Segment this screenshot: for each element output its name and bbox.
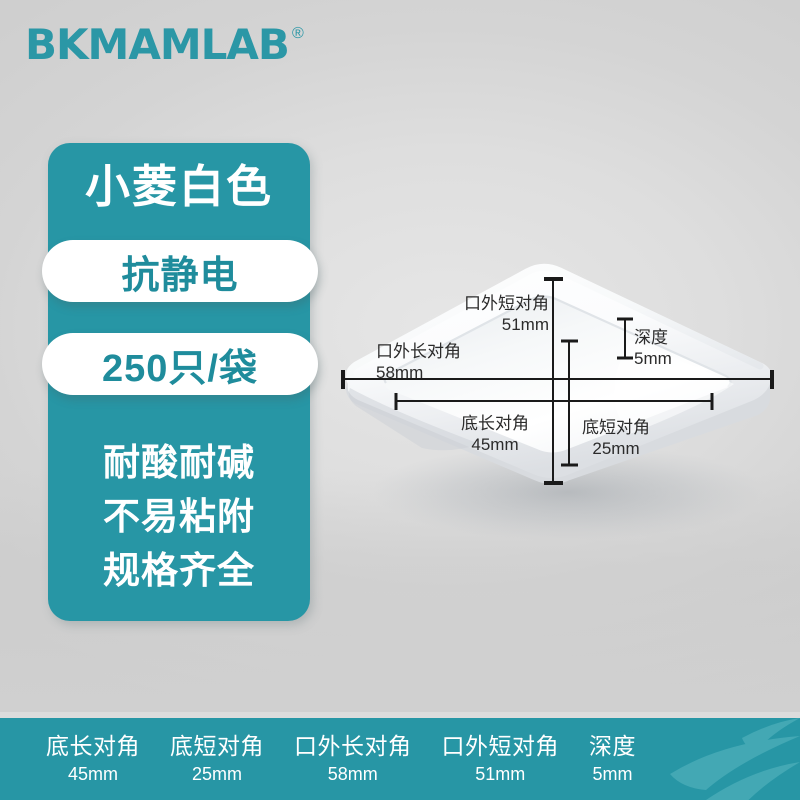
dimension-value: 5mm [634, 348, 672, 369]
dimension-name: 口外长对角 [376, 342, 461, 361]
spec-name: 深度 [589, 731, 636, 761]
spec-value: 5mm [589, 761, 636, 787]
spec-name: 口外短对角 [442, 731, 560, 761]
spec-column-di-duan: 底短对角 25mm [170, 731, 264, 787]
product-marketing-image: BKMAMLAB ® 小菱白色 抗静电 250只/袋 耐酸耐碱 不易粘附 规格齐… [0, 0, 800, 800]
dimension-name: 底短对角 [582, 418, 650, 437]
dimension-label-kouwai-duan: 口外短对角 51mm [417, 293, 549, 335]
spec-bar: 底长对角 45mm 底短对角 25mm 口外长对角 58mm 口外短对角 51m… [0, 718, 800, 800]
spec-name: 口外长对角 [294, 731, 412, 761]
spec-column-shendu: 深度 5mm [589, 731, 636, 787]
dimension-label-di-duan: 底短对角 25mm [572, 417, 660, 459]
dimension-value: 58mm [376, 362, 461, 383]
spec-columns: 底长对角 45mm 底短对角 25mm 口外长对角 58mm 口外短对角 51m… [0, 718, 800, 800]
dimension-name: 底长对角 [461, 414, 529, 433]
dimension-value: 25mm [572, 438, 660, 459]
spec-name: 底短对角 [170, 731, 264, 761]
spec-column-kouwai-chang: 口外长对角 58mm [294, 731, 412, 787]
dimension-value: 45mm [440, 434, 550, 455]
spec-column-kouwai-duan: 口外短对角 51mm [442, 731, 560, 787]
dimension-label-kouwai-chang: 口外长对角 58mm [376, 341, 461, 383]
dimension-name: 深度 [634, 328, 668, 347]
spec-value: 58mm [294, 761, 412, 787]
dimension-value: 51mm [417, 314, 549, 335]
dimension-overlay: 口外短对角 51mm 口外长对角 58mm 底长对角 45mm 底短对角 25m… [0, 0, 800, 712]
spec-value: 25mm [170, 761, 264, 787]
spec-column-di-chang: 底长对角 45mm [46, 731, 140, 787]
dimension-label-di-chang: 底长对角 45mm [440, 413, 550, 455]
dimension-name: 口外短对角 [464, 294, 549, 313]
dimension-label-shendu: 深度 5mm [634, 327, 672, 369]
spec-value: 51mm [442, 761, 560, 787]
spec-name: 底长对角 [46, 731, 140, 761]
spec-value: 45mm [46, 761, 140, 787]
